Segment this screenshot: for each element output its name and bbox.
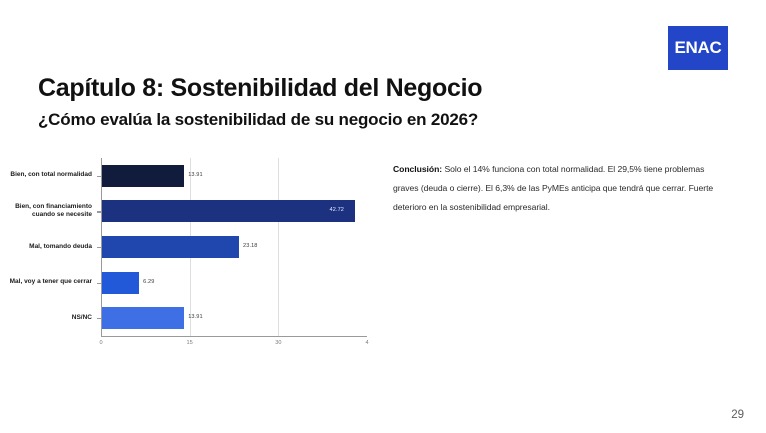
- x-axis-line: [101, 336, 367, 337]
- y-axis-tick: [97, 283, 101, 284]
- enac-logo: ENAC: [668, 26, 728, 70]
- bar[interactable]: [102, 200, 355, 222]
- bar-value-label: 23.18: [243, 243, 258, 249]
- bar-chart: Bien, con total normalidadBien, con fina…: [0, 158, 380, 354]
- y-axis-tick: [97, 318, 101, 319]
- category-label: Mal, voy a tener que cerrar: [0, 278, 92, 287]
- conclusion-lead: Conclusión:: [393, 164, 442, 174]
- y-axis-tick: [97, 247, 101, 248]
- bar-value-label: 13.91: [188, 314, 203, 320]
- category-label: Bien, con total normalidad: [0, 171, 92, 180]
- bar-value-label: 13.91: [188, 172, 203, 178]
- enac-logo-text: ENAC: [675, 38, 722, 58]
- category-label: NS/NC: [0, 314, 92, 323]
- bar[interactable]: [102, 236, 239, 258]
- bar[interactable]: [102, 165, 184, 187]
- bar[interactable]: [102, 272, 139, 294]
- chart-category-labels: Bien, con total normalidadBien, con fina…: [0, 158, 98, 336]
- x-axis-tick-label: 30: [275, 340, 281, 346]
- page-title: Capítulo 8: Sostenibilidad del Negocio: [38, 74, 482, 103]
- bar-value-label: 6.29: [143, 279, 154, 285]
- conclusion-text: Conclusión: Solo el 14% funciona con tot…: [393, 160, 723, 217]
- category-label: Mal, tomando deuda: [0, 243, 92, 252]
- x-axis-tick-label: 15: [187, 340, 193, 346]
- page-number: 29: [731, 409, 744, 421]
- bar[interactable]: [102, 307, 184, 329]
- x-axis-tick-label: 4: [365, 340, 368, 346]
- category-label: Bien, con financiamiento cuando se neces…: [0, 203, 92, 220]
- y-axis-tick: [97, 211, 101, 212]
- page-subtitle: ¿Cómo evalúa la sostenibilidad de su neg…: [38, 110, 478, 130]
- y-axis-tick: [97, 176, 101, 177]
- x-axis-tick-label: 0: [99, 340, 102, 346]
- gridline: [278, 158, 279, 336]
- conclusion-body: Solo el 14% funciona con total normalida…: [393, 164, 713, 212]
- bar-value-label: 42.72: [330, 207, 345, 213]
- chart-plot-area: 13.9142.7223.186.2913.91015304: [101, 158, 367, 336]
